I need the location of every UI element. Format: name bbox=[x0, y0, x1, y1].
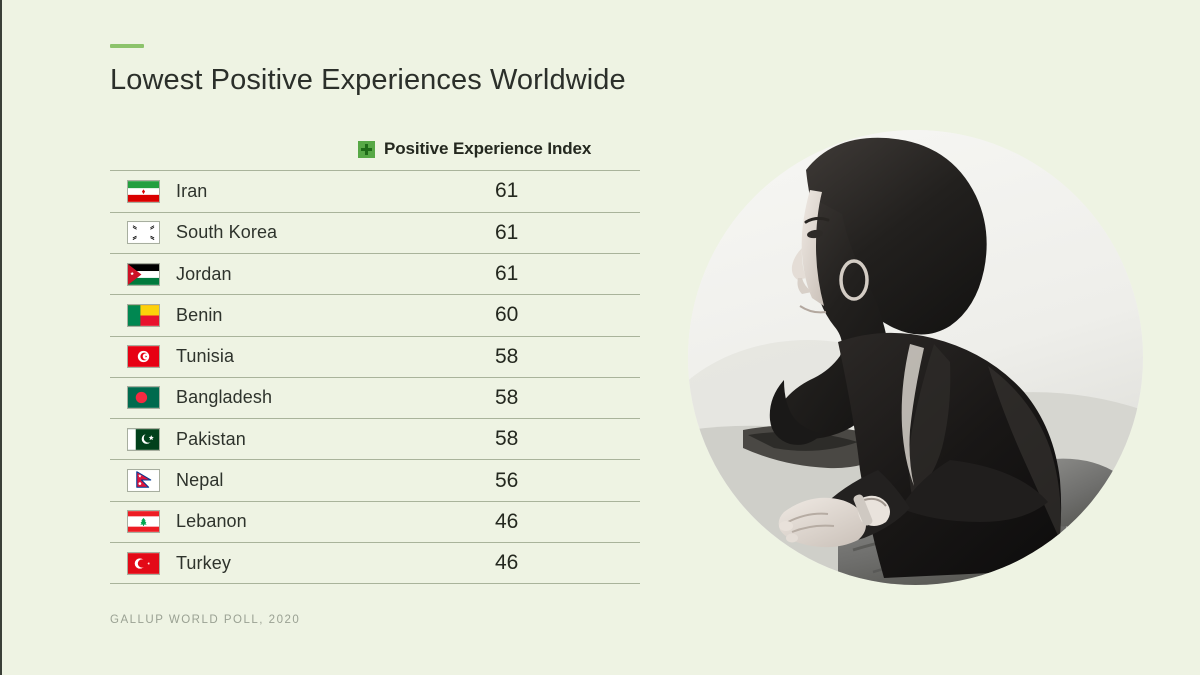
country-name: Pakistan bbox=[176, 429, 485, 450]
flag-pakistan bbox=[128, 429, 159, 450]
table-row[interactable]: Bangladesh58 bbox=[110, 378, 640, 419]
country-flag-cell bbox=[110, 553, 176, 574]
source-attribution: GALLUP WORLD POLL, 2020 bbox=[110, 614, 650, 626]
index-value: 46 bbox=[485, 510, 640, 534]
country-name: Lebanon bbox=[176, 511, 485, 532]
content-column: Lowest Positive Experiences Worldwide Po… bbox=[110, 44, 650, 626]
country-flag-cell bbox=[110, 346, 176, 367]
country-flag-cell bbox=[110, 222, 176, 243]
legend: Positive Experience Index bbox=[358, 139, 650, 159]
country-flag-cell bbox=[110, 429, 176, 450]
country-index-table: Iran61 South Korea61 Jordan61 bbox=[110, 170, 640, 584]
index-value: 58 bbox=[485, 386, 640, 410]
country-flag-cell bbox=[110, 470, 176, 491]
index-value: 58 bbox=[485, 427, 640, 451]
flag-south-korea bbox=[128, 222, 159, 243]
index-value: 61 bbox=[485, 262, 640, 286]
plus-badge-icon bbox=[358, 141, 375, 158]
country-flag-cell bbox=[110, 511, 176, 532]
index-value: 58 bbox=[485, 345, 640, 369]
country-name: Tunisia bbox=[176, 346, 485, 367]
flag-tunisia bbox=[128, 346, 159, 367]
country-flag-cell bbox=[110, 264, 176, 285]
country-name: Turkey bbox=[176, 553, 485, 574]
index-value: 60 bbox=[485, 303, 640, 327]
country-flag-cell bbox=[110, 387, 176, 408]
table-row[interactable]: Jordan61 bbox=[110, 254, 640, 295]
country-name: Iran bbox=[176, 181, 485, 202]
flag-nepal bbox=[128, 470, 159, 491]
country-name: Nepal bbox=[176, 470, 485, 491]
page-title: Lowest Positive Experiences Worldwide bbox=[110, 64, 650, 97]
country-name: Benin bbox=[176, 305, 485, 326]
table-row[interactable]: Lebanon46 bbox=[110, 502, 640, 543]
portrait-photo bbox=[688, 130, 1143, 585]
index-value: 61 bbox=[485, 221, 640, 245]
table-row[interactable]: Benin60 bbox=[110, 295, 640, 336]
table-row[interactable]: Pakistan58 bbox=[110, 419, 640, 460]
index-value: 56 bbox=[485, 469, 640, 493]
flag-bangladesh bbox=[128, 387, 159, 408]
country-name: Bangladesh bbox=[176, 387, 485, 408]
country-name: South Korea bbox=[176, 222, 485, 243]
index-value: 61 bbox=[485, 179, 640, 203]
table-row[interactable]: Iran61 bbox=[110, 171, 640, 212]
legend-label: Positive Experience Index bbox=[384, 139, 591, 159]
flag-jordan bbox=[128, 264, 159, 285]
index-value: 46 bbox=[485, 551, 640, 575]
table-row[interactable]: Nepal56 bbox=[110, 460, 640, 501]
flag-iran bbox=[128, 181, 159, 202]
table-row[interactable]: South Korea61 bbox=[110, 213, 640, 254]
country-name: Jordan bbox=[176, 264, 485, 285]
country-flag-cell bbox=[110, 181, 176, 202]
country-flag-cell bbox=[110, 305, 176, 326]
flag-benin bbox=[128, 305, 159, 326]
portrait-illustration bbox=[688, 130, 1143, 585]
slide: Lowest Positive Experiences Worldwide Po… bbox=[0, 0, 1200, 675]
flag-turkey bbox=[128, 553, 159, 574]
accent-rule bbox=[110, 44, 144, 48]
table-row[interactable]: Tunisia58 bbox=[110, 337, 640, 378]
table-row[interactable]: Turkey46 bbox=[110, 543, 640, 584]
flag-lebanon bbox=[128, 511, 159, 532]
